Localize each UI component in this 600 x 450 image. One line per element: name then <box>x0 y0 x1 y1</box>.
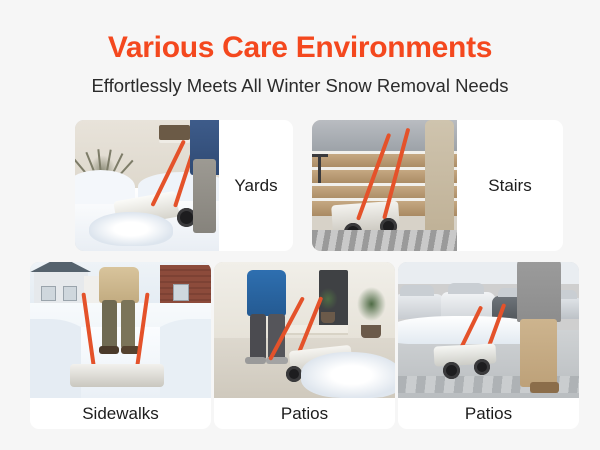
plant-pot <box>321 312 335 323</box>
photo-patios-1 <box>214 262 395 398</box>
pusher-wheel <box>286 366 302 382</box>
pushed-snow-pile <box>89 212 173 246</box>
category-label-yards: Yards <box>234 176 277 196</box>
bottom-row: Sidewalks <box>0 262 600 429</box>
page-header: Various Care Environments Effortlessly M… <box>0 0 600 98</box>
photo-stairs <box>312 120 457 251</box>
pushed-snow-pile <box>301 352 395 398</box>
operator-shoe <box>99 346 119 354</box>
photo-sidewalks <box>30 262 211 398</box>
scene-stairs <box>312 120 457 251</box>
operator-body <box>99 267 139 302</box>
operator-leg <box>250 314 266 360</box>
label-card-yards: Yards <box>219 120 293 251</box>
operator-torso <box>517 262 560 322</box>
scene-parking <box>398 262 579 398</box>
category-label-patios-1: Patios <box>214 398 395 429</box>
car-shape <box>441 292 495 319</box>
handrail <box>318 154 321 183</box>
wet-pavement <box>312 230 457 251</box>
category-card-yards[interactable]: Yards <box>75 120 293 251</box>
photo-patios-2 <box>398 262 579 398</box>
category-card-stairs[interactable]: Stairs <box>312 120 563 251</box>
category-label-sidewalks: Sidewalks <box>30 398 211 429</box>
operator-leg <box>102 300 116 349</box>
category-card-patios-1[interactable]: Patios <box>214 262 395 429</box>
top-row: Yards Stairs <box>0 120 600 251</box>
pusher-wheel <box>474 359 490 375</box>
plant-pot <box>361 325 381 339</box>
scene-sidewalks <box>30 262 211 398</box>
operator-body <box>247 270 287 316</box>
window-shape <box>173 284 189 301</box>
operator-leg <box>121 300 135 349</box>
car-shape <box>398 294 445 319</box>
operator-body <box>517 262 560 398</box>
category-card-sidewalks[interactable]: Sidewalks <box>30 262 211 429</box>
operator-leg <box>193 159 216 232</box>
window-shape <box>159 125 191 139</box>
potted-plant <box>352 281 392 327</box>
operator-shoe <box>530 382 559 393</box>
window-shape <box>41 286 56 300</box>
category-label-stairs: Stairs <box>488 176 531 196</box>
photo-yards <box>75 120 219 251</box>
snow-pusher-blade <box>70 364 164 387</box>
scene-patio <box>214 262 395 398</box>
category-label-patios-2: Patios <box>398 398 579 429</box>
category-card-patios-2[interactable]: Patios <box>398 262 579 429</box>
page-title: Various Care Environments <box>0 0 600 66</box>
operator-legs <box>520 319 556 387</box>
scene-yards <box>75 120 219 251</box>
operator-shoe <box>245 357 267 364</box>
label-card-stairs: Stairs <box>457 120 563 251</box>
page-subtitle: Effortlessly Meets All Winter Snow Remov… <box>0 66 600 98</box>
window-shape <box>63 286 78 300</box>
